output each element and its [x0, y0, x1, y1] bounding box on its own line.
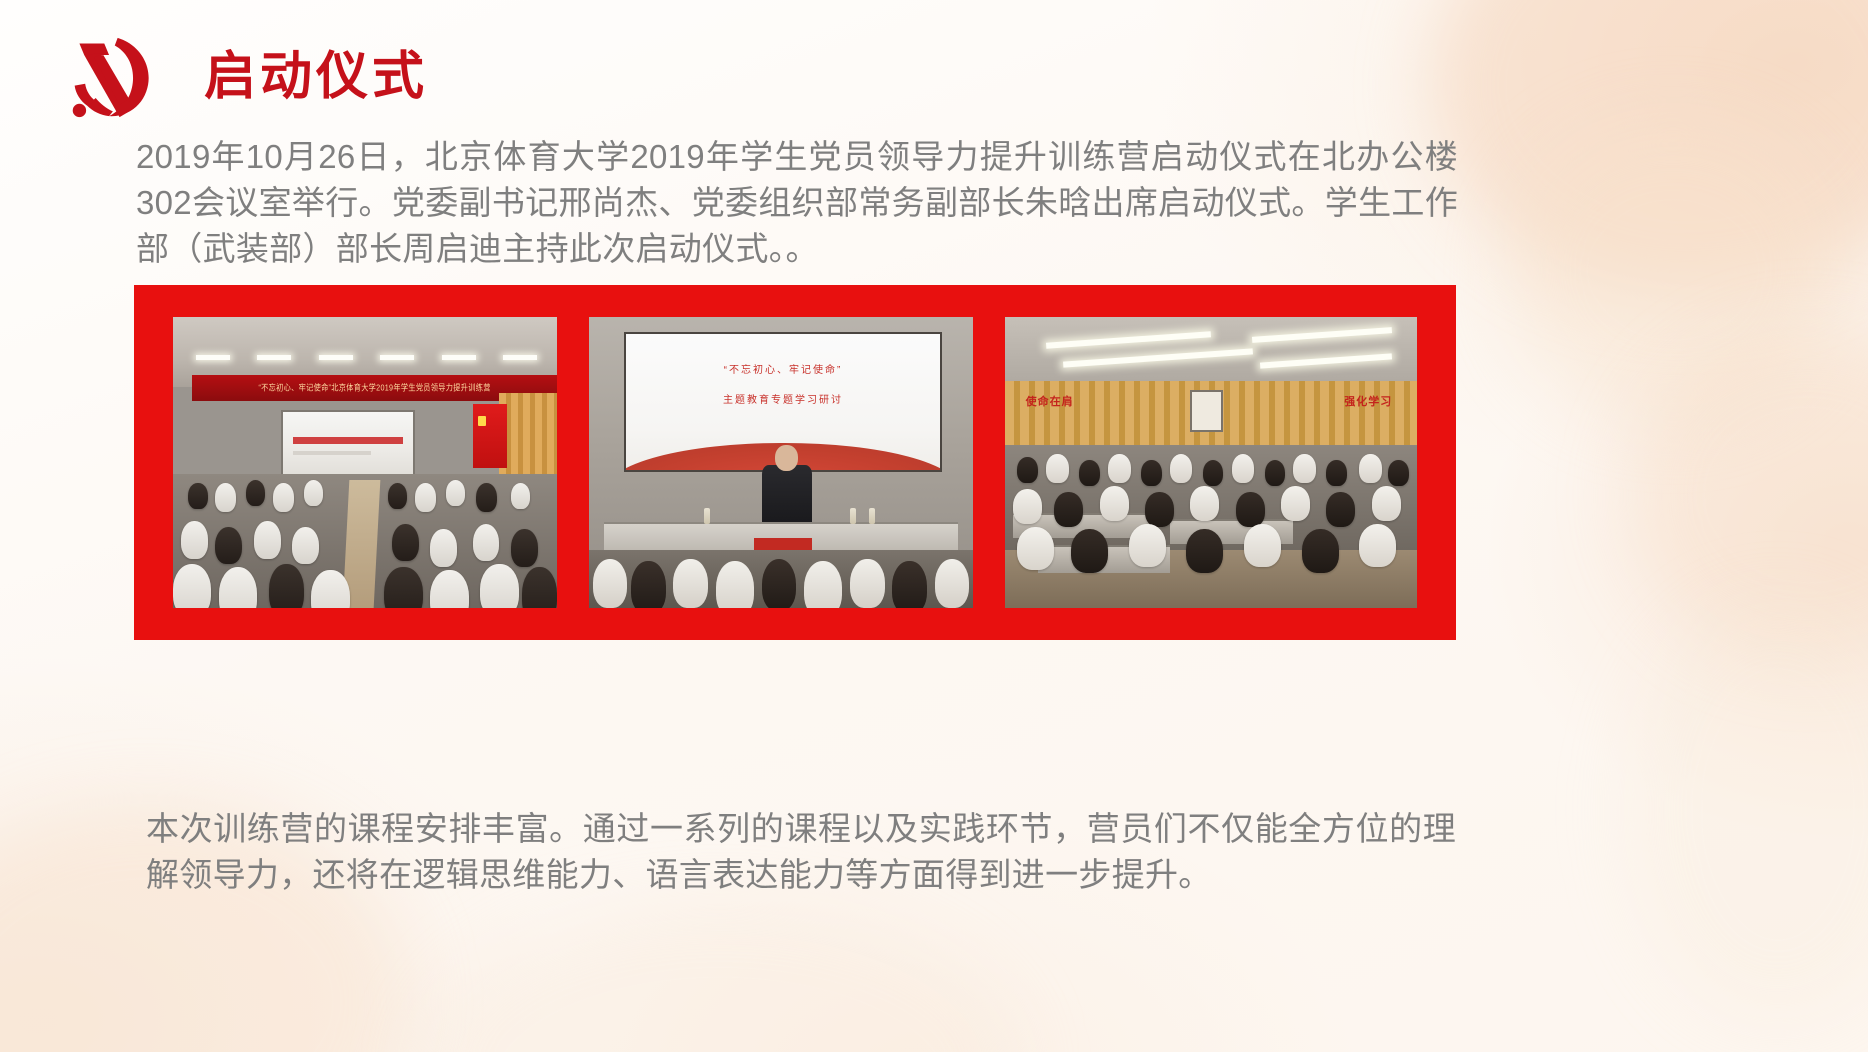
photo-auditorium-opening: “不忘初心、牢记使命”北京体育大学2019年学生党员领导力提升训练营 — [173, 317, 557, 608]
intro-paragraph: 2019年10月26日，北京体育大学2019年学生党员领导力提升训练营启动仪式在… — [136, 134, 1458, 273]
photo-gallery-band: “不忘初心、牢记使命”北京体育大学2019年学生党员领导力提升训练营 — [134, 285, 1456, 640]
page-title: 启动仪式 — [204, 51, 428, 103]
projection-line-1: “不忘初心、牢记使命” — [626, 361, 941, 376]
photo-classroom-trainees: 使命在肩 强化学习 — [1005, 317, 1417, 608]
wall-slogan-left: 使命在肩 — [1026, 393, 1074, 409]
wall-slogan-right: 强化学习 — [1344, 393, 1392, 409]
photo-speaker-presentation: “不忘初心、牢记使命” 主题教育专题学习研讨 — [589, 317, 973, 608]
slide-header: 启动仪式 — [62, 34, 428, 120]
cpc-party-emblem-icon — [62, 34, 158, 120]
photo-banner-text: “不忘初心、牢记使命”北京体育大学2019年学生党员领导力提升训练营 — [258, 383, 490, 395]
outro-paragraph: 本次训练营的课程安排丰富。通过一系列的课程以及实践环节，营员们不仅能全方位的理解… — [146, 806, 1456, 898]
projection-line-2: 主题教育专题学习研讨 — [626, 391, 941, 406]
presentation-slide: 启动仪式 2019年10月26日，北京体育大学2019年学生党员领导力提升训练营… — [0, 0, 1868, 1052]
